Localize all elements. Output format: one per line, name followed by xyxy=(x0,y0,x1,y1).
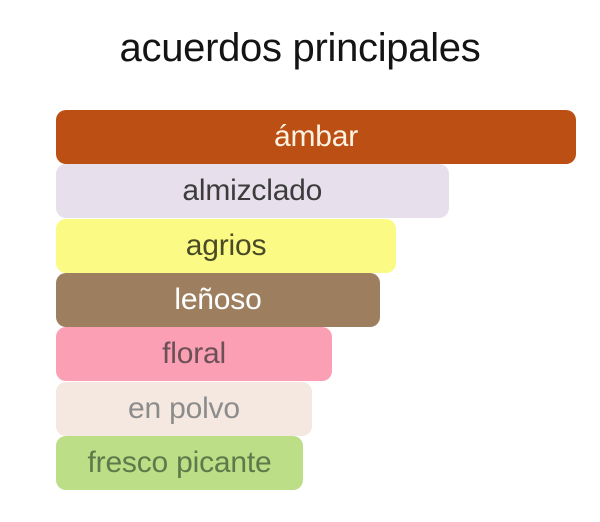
bar-segment[interactable] xyxy=(56,110,576,164)
bar-segment[interactable] xyxy=(56,273,380,327)
bar-chart: acuerdos principales ámbaralmizcladoagri… xyxy=(0,0,600,522)
bars-container: ámbaralmizcladoagriosleñosofloralen polv… xyxy=(56,110,576,490)
bar-segment[interactable] xyxy=(56,327,332,381)
bar-segment[interactable] xyxy=(56,219,396,273)
chart-title: acuerdos principales xyxy=(0,26,600,70)
bar-segment[interactable] xyxy=(56,436,303,490)
bar-segment[interactable] xyxy=(56,382,312,436)
bar-segment[interactable] xyxy=(56,164,449,218)
